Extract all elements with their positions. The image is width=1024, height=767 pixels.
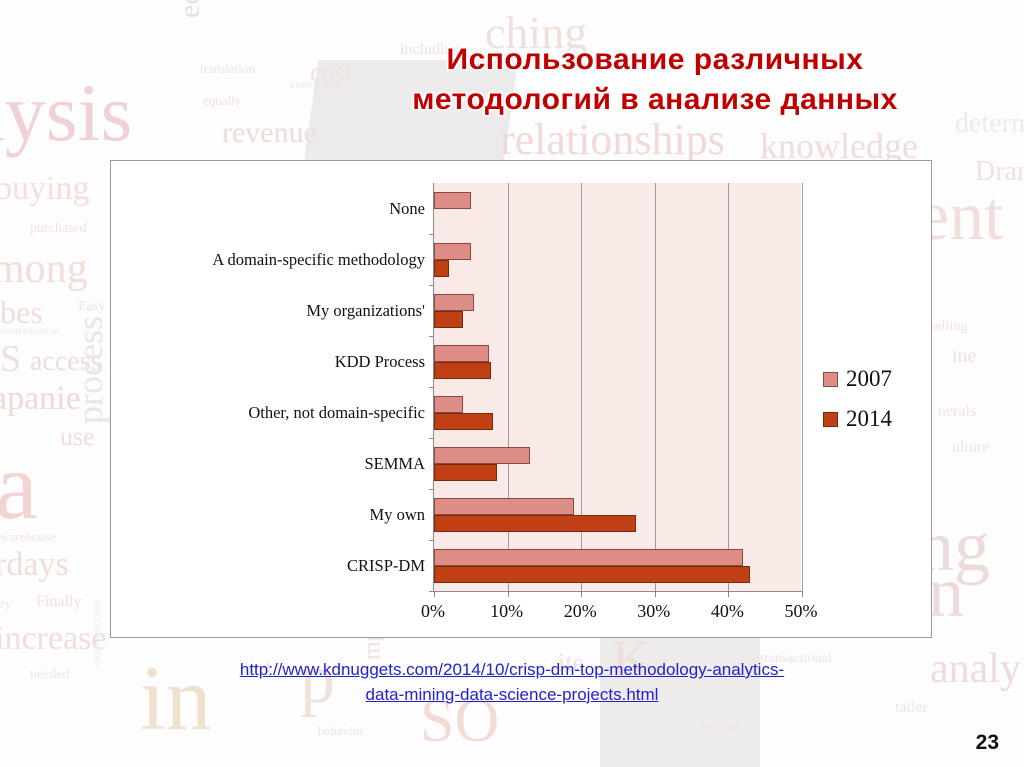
background-word: translation — [200, 62, 255, 75]
chart-bar-2007 — [434, 447, 530, 464]
background-word: bes — [0, 296, 43, 328]
chart-x-tick-label: 0% — [421, 601, 445, 622]
page-title-line-2: методологий в анализе данных — [330, 80, 980, 120]
chart-bar-2007 — [434, 396, 463, 413]
chart-x-tick-label: 10% — [490, 601, 523, 622]
background-word: ulture — [952, 440, 989, 456]
page-number: 23 — [976, 731, 999, 755]
chart-bar-2007 — [434, 243, 471, 260]
background-word: ine — [952, 346, 976, 366]
chart-panel: NoneA domain-specific methodologyMy orga… — [110, 160, 932, 638]
source-link[interactable]: http://www.kdnuggets.com/2014/10/crisp-d… — [112, 658, 912, 707]
chart-x-tick-label: 40% — [711, 601, 744, 622]
background-word: apanie — [0, 382, 81, 416]
page-title: Использование различных методологий в ан… — [330, 40, 980, 119]
background-word: analy — [930, 648, 1021, 690]
background-word: Easy — [78, 300, 105, 314]
chart-category-row: None — [434, 183, 801, 234]
chart-category-row: Other, not domain-specific — [434, 387, 801, 438]
slide-canvas: a lysiseconomictranslationequallyconvert… — [0, 0, 1024, 767]
legend-swatch-2014-icon — [823, 412, 838, 427]
chart-x-tick-label: 30% — [637, 601, 670, 622]
legend-item-2007[interactable]: 2007 — [823, 366, 892, 392]
source-link-line-1[interactable]: http://www.kdnuggets.com/2014/10/crisp-d… — [240, 660, 784, 679]
chart-category-row: KDD Process — [434, 336, 801, 387]
chart-bar-2007 — [434, 498, 574, 515]
chart-category-label: My organizations' — [306, 301, 425, 321]
background-word: mong — [0, 248, 88, 290]
chart-bar-2014 — [434, 362, 491, 379]
chart-bar-2014 — [434, 260, 449, 277]
chart-bar-2014 — [434, 515, 636, 532]
background-word: access — [30, 348, 102, 376]
background-word: selling — [930, 320, 967, 334]
chart-category-label: A domain-specific methodology — [212, 250, 425, 270]
chart-category-label: None — [389, 199, 425, 219]
background-word: communication — [92, 600, 103, 668]
chart-category-label: SEMMA — [364, 454, 425, 474]
chart-category-row: CRISP-DM — [434, 540, 801, 591]
chart-category-label: KDD Process — [335, 352, 425, 372]
background-word: equally — [203, 94, 241, 107]
chart-category-label: CRISP-DM — [347, 556, 425, 576]
chart-x-axis-line — [433, 591, 802, 592]
background-word: buying — [0, 172, 89, 206]
background-word: purchased — [30, 222, 87, 236]
chart-category-row: A domain-specific methodology — [434, 234, 801, 285]
background-word: Dram — [975, 158, 1024, 186]
background-word: S — [0, 340, 21, 378]
background-word: warehouse — [0, 530, 56, 543]
background-word: process — [72, 316, 108, 424]
chart-inner: NoneA domain-specific methodologyMy orga… — [111, 161, 931, 637]
chart-plot-area: NoneA domain-specific methodologyMy orga… — [433, 183, 801, 591]
chart-bar-2014 — [434, 566, 750, 583]
chart-x-tick — [802, 591, 803, 597]
chart-x-tick-label: 20% — [564, 601, 597, 622]
chart-bar-2007 — [434, 345, 489, 362]
background-word: a — [0, 438, 38, 534]
chart-x-tick-label: 50% — [785, 601, 818, 622]
background-word: lysis — [0, 72, 132, 154]
background-word: behavior — [318, 724, 363, 737]
chart-category-row: SEMMA — [434, 438, 801, 489]
background-word: rdays — [0, 548, 69, 582]
background-word: Finally — [36, 594, 81, 610]
legend-swatch-2007-icon — [823, 372, 838, 387]
background-word: economic — [175, 0, 205, 18]
background-word: nerals — [938, 404, 976, 420]
chart-legend: 2007 2014 — [823, 366, 892, 446]
chart-bar-2014 — [434, 311, 463, 328]
background-word: ry — [0, 598, 12, 612]
source-link-line-2[interactable]: data-mining-data-science-projects.html — [366, 685, 659, 704]
chart-bar-2007 — [434, 549, 743, 566]
background-word: increase — [0, 622, 106, 656]
chart-category-row: My own — [434, 489, 801, 540]
background-word: use — [60, 424, 95, 450]
chart-category-row: My organizations' — [434, 285, 801, 336]
chart-bar-2007 — [434, 294, 474, 311]
page-title-line-1: Использование различных — [330, 40, 980, 80]
chart-category-label: My own — [370, 505, 425, 525]
background-word: revenue — [222, 118, 317, 148]
legend-label-2007: 2007 — [846, 366, 892, 392]
chart-bar-2014 — [434, 413, 493, 430]
background-word: needed — [30, 668, 70, 682]
chart-bar-2014 — [434, 464, 497, 481]
chart-bar-2007 — [434, 192, 471, 209]
background-word: centralization — [0, 326, 60, 337]
chart-gridline — [802, 183, 803, 591]
legend-label-2014: 2014 — [846, 406, 892, 432]
background-word: relationships — [500, 118, 725, 162]
chart-category-label: Other, not domain-specific — [248, 403, 425, 423]
legend-item-2014[interactable]: 2014 — [823, 406, 892, 432]
